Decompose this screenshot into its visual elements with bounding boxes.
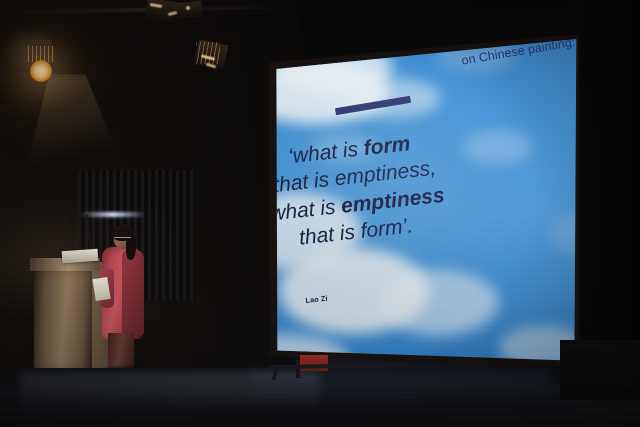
eyeglasses-icon [114, 237, 131, 242]
overhead-lighting-truss [196, 42, 220, 64]
slide-background: The concept of empty space has had a sig… [249, 34, 579, 370]
quote-attribution: Lao Zi [305, 283, 425, 305]
presenter [100, 228, 144, 374]
stand-leg [296, 360, 300, 378]
light-glint [186, 6, 190, 10]
presenter-held-papers [92, 277, 110, 301]
foreground-dark-object [560, 340, 640, 400]
lectern [34, 266, 92, 374]
presentation-photo-scene: The concept of empty space has had a sig… [0, 0, 640, 427]
right-wall-shadow [574, 0, 640, 372]
quote-line-1-emphasis: form [362, 132, 411, 160]
lighting-fixture [175, 1, 203, 20]
projection-screen: The concept of empty space has had a sig… [249, 34, 579, 370]
slide-quote: ‘what is form that is emptiness, what is… [263, 123, 484, 254]
floor-reflection [250, 370, 550, 410]
stage-spotlight-icon [30, 60, 52, 82]
presenter-shawl [122, 250, 144, 336]
lectern-papers [62, 249, 99, 263]
background-light-strip [82, 212, 144, 217]
slide-content: The concept of empty space has had a sig… [249, 34, 579, 370]
microphone-icon [68, 218, 75, 225]
decorative-rule-middle [335, 96, 411, 115]
